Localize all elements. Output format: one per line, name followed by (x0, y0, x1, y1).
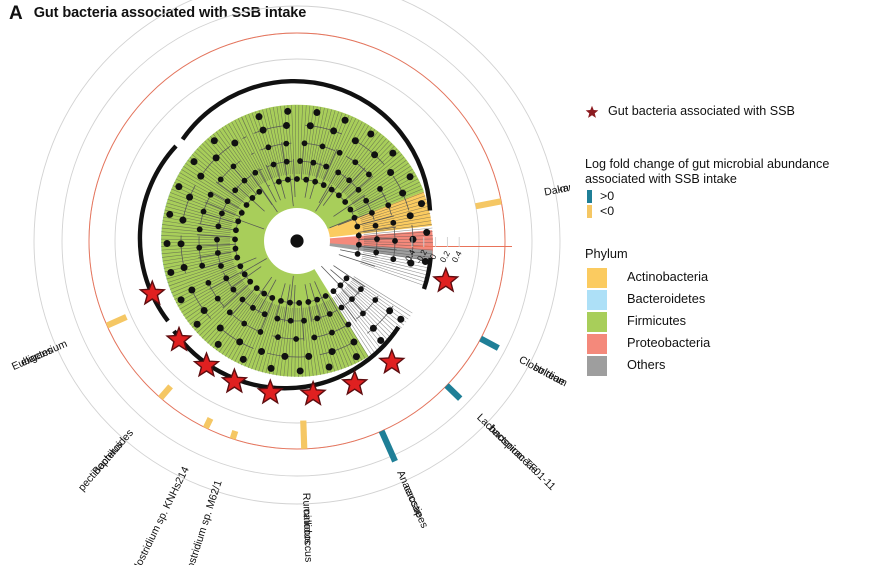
axis-tick-label: 0.4 (449, 249, 463, 264)
tip-label: caccae (401, 483, 426, 519)
logfold-bar (233, 431, 236, 439)
legend-logfold-label-positive: >0 (600, 190, 614, 203)
legend-bar-positive (587, 190, 592, 203)
star-marker (434, 268, 458, 291)
legend-phylum-label-others: Others (627, 359, 665, 372)
legend-star-label: Gut bacteria associated with SSB (608, 104, 795, 119)
legend-logfold-caption: Log fold change of gut microbial abundan… (585, 157, 885, 188)
circular-phylogenetic-tree-figure: -0.4-0.200.20.4 DakarellamassiliensisClo… (0, 0, 570, 565)
phylum-swatch-others (587, 356, 607, 376)
tip-label: bacterium TF01-11 (486, 423, 558, 493)
tip-label: eligens (19, 344, 55, 369)
phylum-swatch-bacteroidetes (587, 290, 607, 310)
legend-phylum-label-proteobacteria: Proteobacteria (627, 337, 710, 350)
tip-label: pectinophilus (76, 439, 126, 494)
phylum-swatch-firmicutes (587, 312, 607, 332)
legend-phylum-block: Phylum Actinobacteria Bacteroidetes Firm… (585, 246, 890, 377)
logfold-bar (447, 385, 461, 398)
root-node (290, 234, 303, 247)
legend-logfold-label-negative: <0 (600, 205, 614, 218)
star-marker (380, 350, 404, 373)
tip-label: Clostridium sp. M62/1 (182, 479, 225, 565)
legend-panel: Gut bacteria associated with SSB Log fol… (585, 104, 890, 377)
tip-label: callidus (301, 509, 314, 545)
legend-bar-negative (587, 205, 592, 218)
logfold-bar (382, 431, 395, 461)
logfold-bar (476, 201, 501, 206)
logfold-bar (481, 339, 499, 348)
star-marker (140, 281, 164, 304)
phylum-swatch-proteobacteria (587, 334, 607, 354)
legend-phylum-label-actinobacteria: Actinobacteria (627, 271, 708, 284)
logfold-bar (303, 421, 304, 449)
legend-phylum-item-actinobacteria: Actinobacteria (585, 267, 890, 289)
tree-svg: -0.4-0.200.20.4 DakarellamassiliensisClo… (0, 0, 570, 565)
logfold-bar (206, 418, 211, 428)
legend-phylum-item-bacteroidetes: Bacteroidetes (585, 289, 890, 311)
tip-label: Clostridium sp. KNHs214 (129, 465, 192, 565)
legend-star-row: Gut bacteria associated with SSB (585, 104, 890, 119)
star-icon (585, 105, 599, 119)
logfold-bar (107, 317, 126, 326)
legend-phylum-label-firmicutes: Firmicutes (627, 315, 686, 328)
logfold-bar (161, 386, 171, 398)
legend-logfold-item-positive: >0 (585, 190, 890, 203)
star-marker (258, 380, 282, 403)
legend-phylum-item-proteobacteria: Proteobacteria (585, 333, 890, 355)
legend-phylum-label-bacteroidetes: Bacteroidetes (627, 293, 705, 306)
legend-phylum-title: Phylum (585, 246, 890, 261)
legend-phylum-item-firmicutes: Firmicutes (585, 311, 890, 333)
legend-phylum-item-others: Others (585, 355, 890, 377)
legend-logfold-block: Log fold change of gut microbial abundan… (585, 157, 890, 218)
legend-logfold-item-negative: <0 (585, 205, 890, 218)
tip-label: massiliensis (559, 173, 570, 196)
tip-label: bolteae (531, 361, 567, 388)
phylum-swatch-actinobacteria (587, 268, 607, 288)
